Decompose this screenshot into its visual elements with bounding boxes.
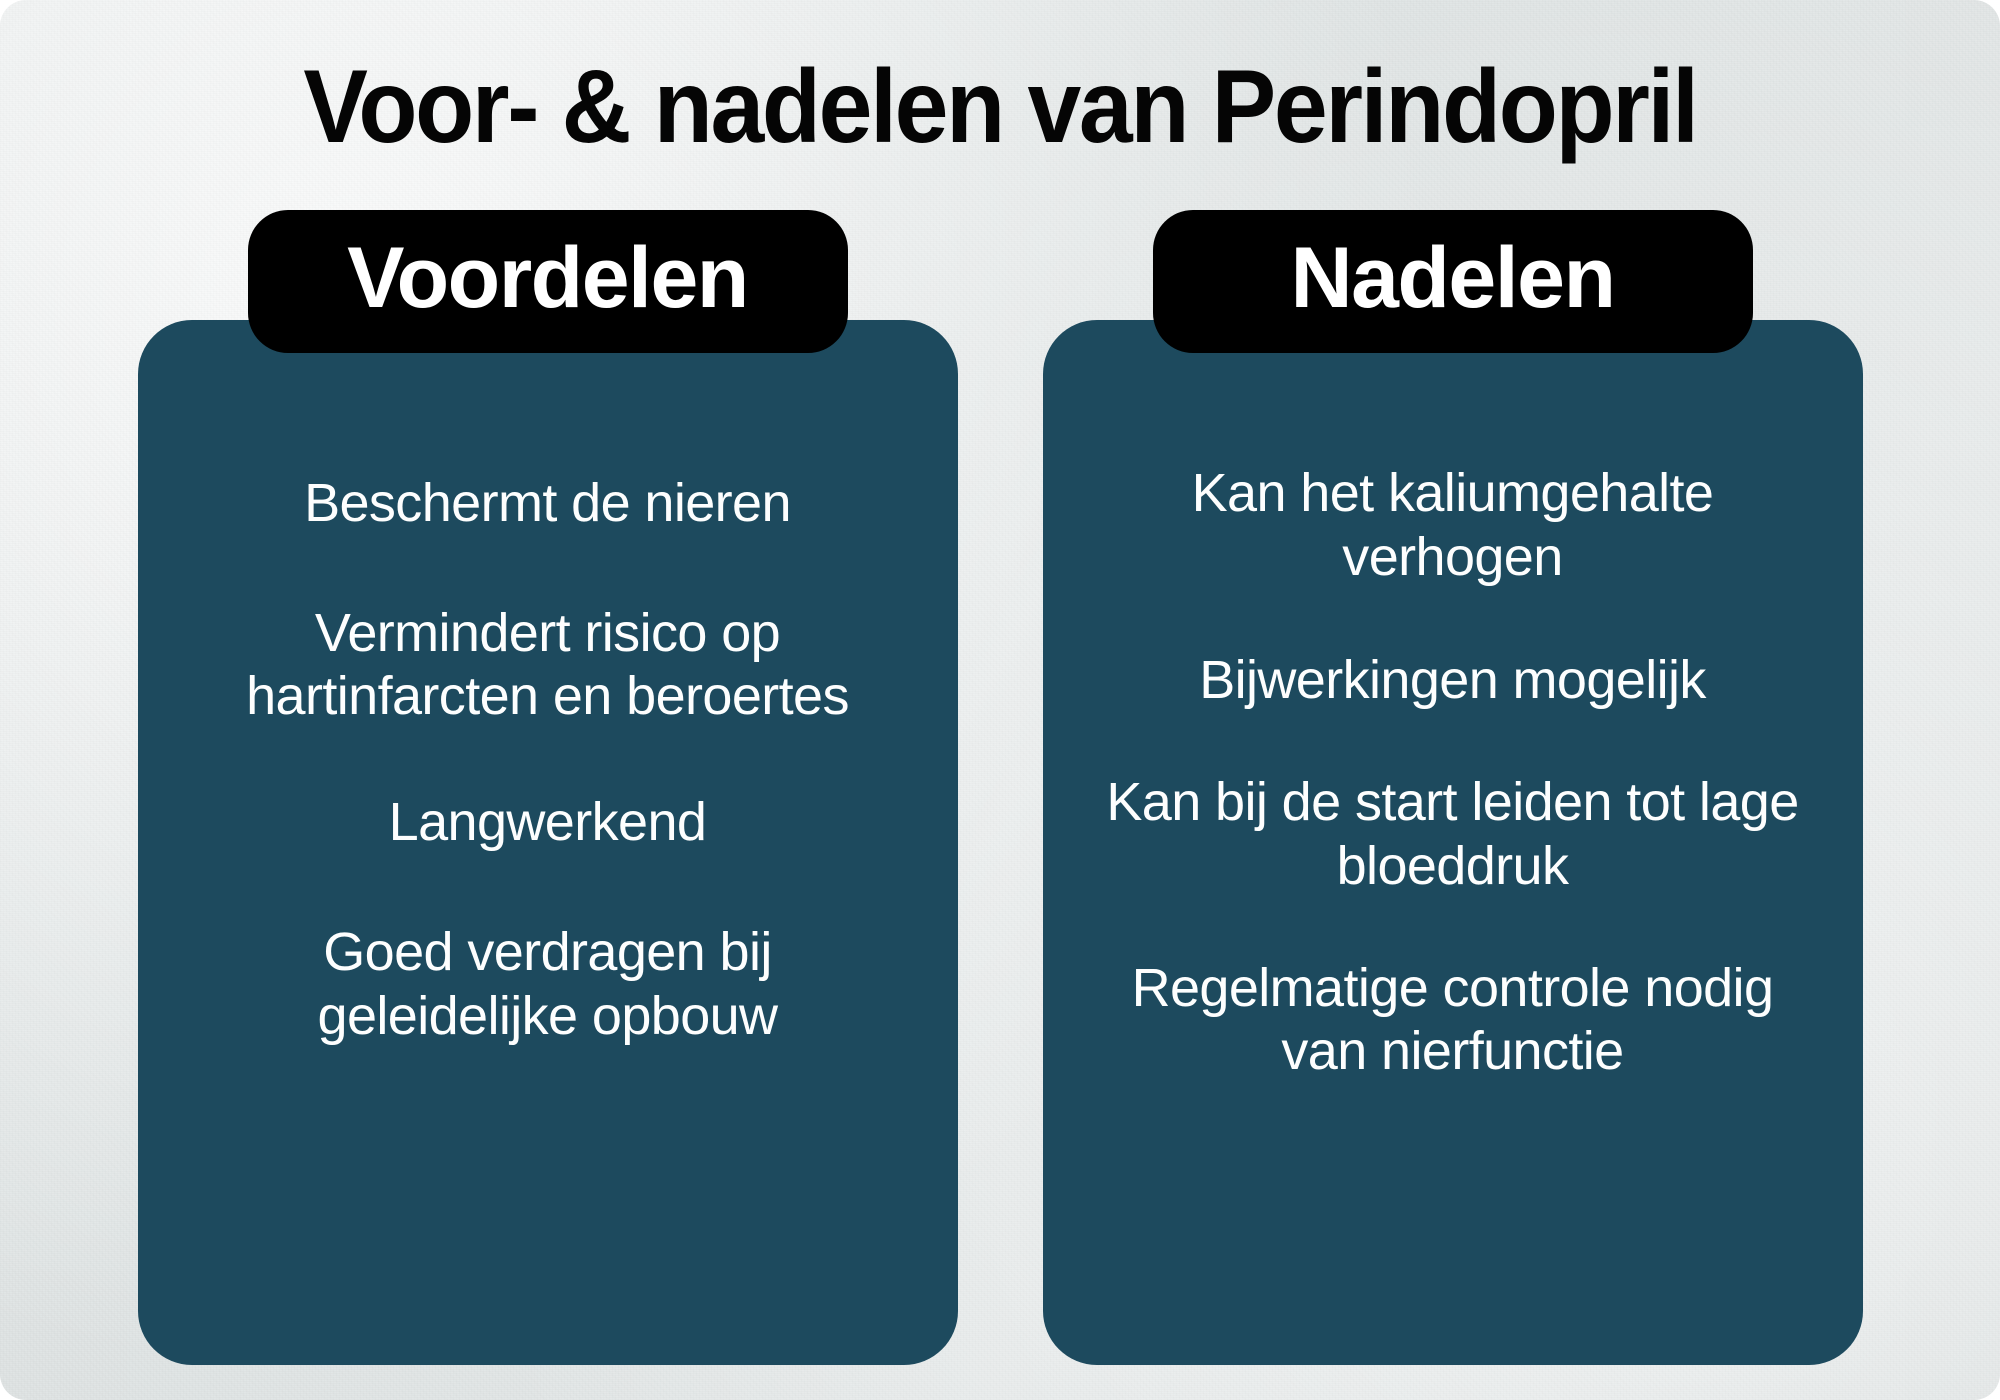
cons-card: Nadelen Kan het kaliumgehalte verhogen B… <box>1043 320 1863 1365</box>
list-item: Langwerkend <box>192 791 904 855</box>
pros-card-header: Voordelen <box>248 210 848 353</box>
list-item: Bijwerkingen mogelijk <box>1097 649 1809 713</box>
list-item: Kan het kaliumgehalte verhogen <box>1097 462 1809 589</box>
cons-card-header: Nadelen <box>1153 210 1753 353</box>
list-item: Goed verdragen bij geleidelijke opbouw <box>192 921 904 1048</box>
comparison-columns: Voordelen Beschermt de nieren Vermindert… <box>0 320 2000 1400</box>
list-item: Kan bij de start leiden tot lage bloeddr… <box>1097 771 1809 898</box>
list-item: Beschermt de nieren <box>192 472 904 536</box>
pros-card: Voordelen Beschermt de nieren Vermindert… <box>138 320 958 1365</box>
list-item: Vermindert risico op hartinfarcten en be… <box>192 602 904 729</box>
cons-list: Kan het kaliumgehalte verhogen Bijwerkin… <box>1097 450 1809 1146</box>
infographic-canvas: Voor- & nadelen van Perindopril Voordele… <box>0 0 2000 1400</box>
page-title: Voor- & nadelen van Perindopril <box>70 52 1930 162</box>
pros-list: Beschermt de nieren Vermindert risico op… <box>192 450 904 1110</box>
list-item: Regelmatige controle nodig van nierfunct… <box>1097 957 1809 1084</box>
